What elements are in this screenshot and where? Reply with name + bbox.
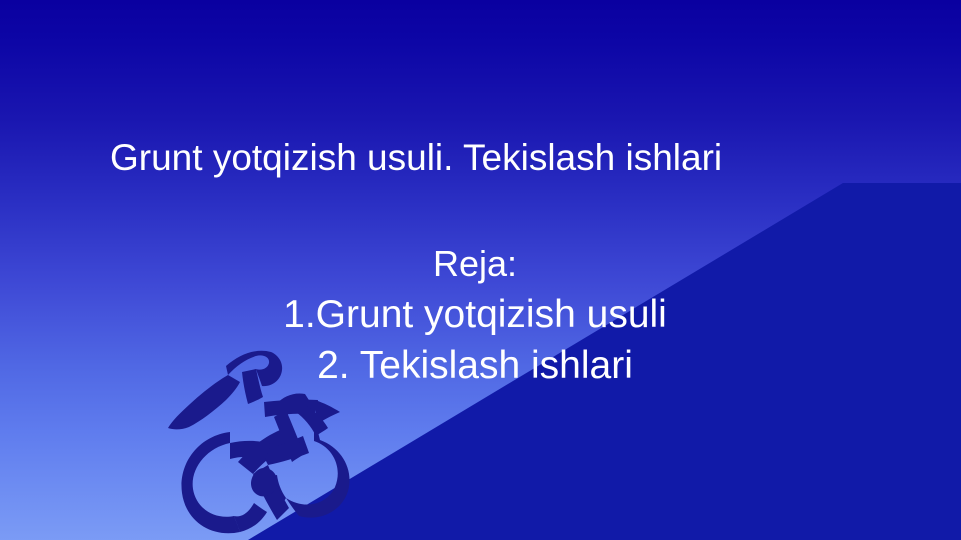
presentation-slide: Grunt yotqizish usuli. Tekislash ishlari… — [0, 0, 961, 540]
slide-title: Grunt yotqizish usuli. Tekislash ishlari — [110, 135, 870, 181]
body-line-item-1: 1.Grunt yotqizish usuli — [0, 289, 950, 340]
body-line-heading: Reja: — [0, 238, 950, 289]
slide-body: Reja: 1.Grunt yotqizish usuli 2. Tekisla… — [0, 238, 950, 391]
body-line-item-2: 2. Tekislash ishlari — [0, 340, 950, 391]
